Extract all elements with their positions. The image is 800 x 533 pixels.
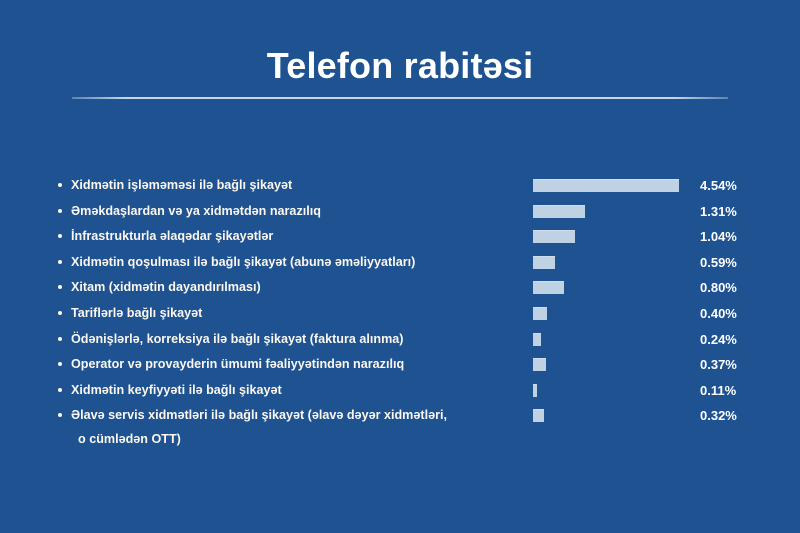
chart-row: Əməkdaşlardan və ya xidmətdən narazılıq1… [56, 202, 756, 228]
title-block: Telefon rabitəsi [0, 44, 800, 88]
bar [533, 281, 564, 294]
category-label-text: Ödənişlərlə, korreksiya ilə bağlı şikayə… [71, 332, 404, 346]
category-label: Xidmətin keyfiyyəti ilə bağlı şikayət [56, 381, 534, 400]
bar [533, 384, 537, 397]
category-label-wrap: Əlavə servis xidmətləri ilə bağlı şikayə… [56, 406, 534, 449]
category-label-wrap: Xidmətin işləməməsi ilə bağlı şikayət [56, 176, 534, 195]
value-label: 0.32% [700, 406, 756, 425]
bullet-icon [58, 285, 62, 289]
category-label-continuation: o cümlədən OTT) [56, 430, 534, 449]
bar [533, 179, 679, 192]
chart-row: Xidmətin keyfiyyəti ilə bağlı şikayət0.1… [56, 381, 756, 407]
category-label: Xitam (xidmətin dayandırılması) [56, 278, 534, 297]
category-label-text: Xidmətin qoşulması ilə bağlı şikayət (ab… [71, 255, 415, 269]
bar [533, 307, 547, 320]
category-label: Ödənişlərlə, korreksiya ilə bağlı şikayə… [56, 330, 534, 349]
bar-track [533, 409, 703, 422]
category-label-wrap: Əməkdaşlardan və ya xidmətdən narazılıq [56, 202, 534, 221]
category-label-wrap: Ödənişlərlə, korreksiya ilə bağlı şikayə… [56, 330, 534, 349]
category-label-wrap: Xidmətin keyfiyyəti ilə bağlı şikayət [56, 381, 534, 400]
value-label: 0.24% [700, 330, 756, 349]
category-label-wrap: Xitam (xidmətin dayandırılması) [56, 278, 534, 297]
bullet-icon [58, 362, 62, 366]
bar-track [533, 179, 703, 192]
category-label-text: İnfrastrukturla əlaqədar şikayətlər [71, 229, 273, 243]
value-label: 0.11% [700, 381, 756, 400]
value-label: 1.04% [700, 227, 756, 246]
value-label: 1.31% [700, 202, 756, 221]
bullet-icon [58, 209, 62, 213]
category-label-wrap: İnfrastrukturla əlaqədar şikayətlər [56, 227, 534, 246]
bar-track [533, 384, 703, 397]
chart-row: İnfrastrukturla əlaqədar şikayətlər1.04% [56, 227, 756, 253]
category-label-text: Tariflərlə bağlı şikayət [71, 306, 202, 320]
chart-row: Ödənişlərlə, korreksiya ilə bağlı şikayə… [56, 330, 756, 356]
chart-row: Xitam (xidmətin dayandırılması)0.80% [56, 278, 756, 304]
bar [533, 256, 555, 269]
category-label: Əlavə servis xidmətləri ilə bağlı şikayə… [56, 406, 534, 425]
category-label-text: Operator və provayderin ümumi fəaliyyəti… [71, 357, 404, 371]
bullet-icon [58, 388, 62, 392]
bar-track [533, 281, 703, 294]
bullet-icon [58, 413, 62, 417]
bar-track [533, 333, 703, 346]
slide-canvas: Telefon rabitəsi Xidmətin işləməməsi ilə… [0, 0, 800, 533]
chart-row: Əlavə servis xidmətləri ilə bağlı şikayə… [56, 406, 756, 454]
bar-chart: Xidmətin işləməməsi ilə bağlı şikayət4.5… [56, 176, 756, 454]
chart-row: Tariflərlə bağlı şikayət0.40% [56, 304, 756, 330]
bar-track [533, 256, 703, 269]
value-label: 0.37% [700, 355, 756, 374]
bar [533, 230, 575, 243]
bar-track [533, 307, 703, 320]
bar [533, 409, 544, 422]
category-label: Əməkdaşlardan və ya xidmətdən narazılıq [56, 202, 534, 221]
bullet-icon [58, 234, 62, 238]
category-label: Operator və provayderin ümumi fəaliyyəti… [56, 355, 534, 374]
chart-row: Xidmətin işləməməsi ilə bağlı şikayət4.5… [56, 176, 756, 202]
category-label-text: Xitam (xidmətin dayandırılması) [71, 280, 261, 294]
category-label-text: Xidmətin keyfiyyəti ilə bağlı şikayət [71, 383, 282, 397]
category-label: Tariflərlə bağlı şikayət [56, 304, 534, 323]
bullet-icon [58, 311, 62, 315]
category-label: Xidmətin işləməməsi ilə bağlı şikayət [56, 176, 534, 195]
page-title: Telefon rabitəsi [0, 44, 800, 88]
bar-track [533, 230, 703, 243]
category-label-text: Əlavə servis xidmətləri ilə bağlı şikayə… [71, 408, 447, 422]
value-label: 4.54% [700, 176, 756, 195]
bullet-icon [58, 260, 62, 264]
category-label-text: Əməkdaşlardan və ya xidmətdən narazılıq [71, 204, 321, 218]
bar-track [533, 358, 703, 371]
bar [533, 205, 585, 218]
bar-track [533, 205, 703, 218]
chart-row: Operator və provayderin ümumi fəaliyyəti… [56, 355, 756, 381]
category-label: Xidmətin qoşulması ilə bağlı şikayət (ab… [56, 253, 534, 272]
value-label: 0.80% [700, 278, 756, 297]
category-label-wrap: Tariflərlə bağlı şikayət [56, 304, 534, 323]
bullet-icon [58, 337, 62, 341]
value-label: 0.59% [700, 253, 756, 272]
bar [533, 358, 546, 371]
chart-row: Xidmətin qoşulması ilə bağlı şikayət (ab… [56, 253, 756, 279]
category-label: İnfrastrukturla əlaqədar şikayətlər [56, 227, 534, 246]
category-label-wrap: Xidmətin qoşulması ilə bağlı şikayət (ab… [56, 253, 534, 272]
value-label: 0.40% [700, 304, 756, 323]
bullet-icon [58, 183, 62, 187]
bar [533, 333, 541, 346]
category-label-wrap: Operator və provayderin ümumi fəaliyyəti… [56, 355, 534, 374]
category-label-text: Xidmətin işləməməsi ilə bağlı şikayət [71, 178, 292, 192]
title-divider [72, 97, 728, 99]
